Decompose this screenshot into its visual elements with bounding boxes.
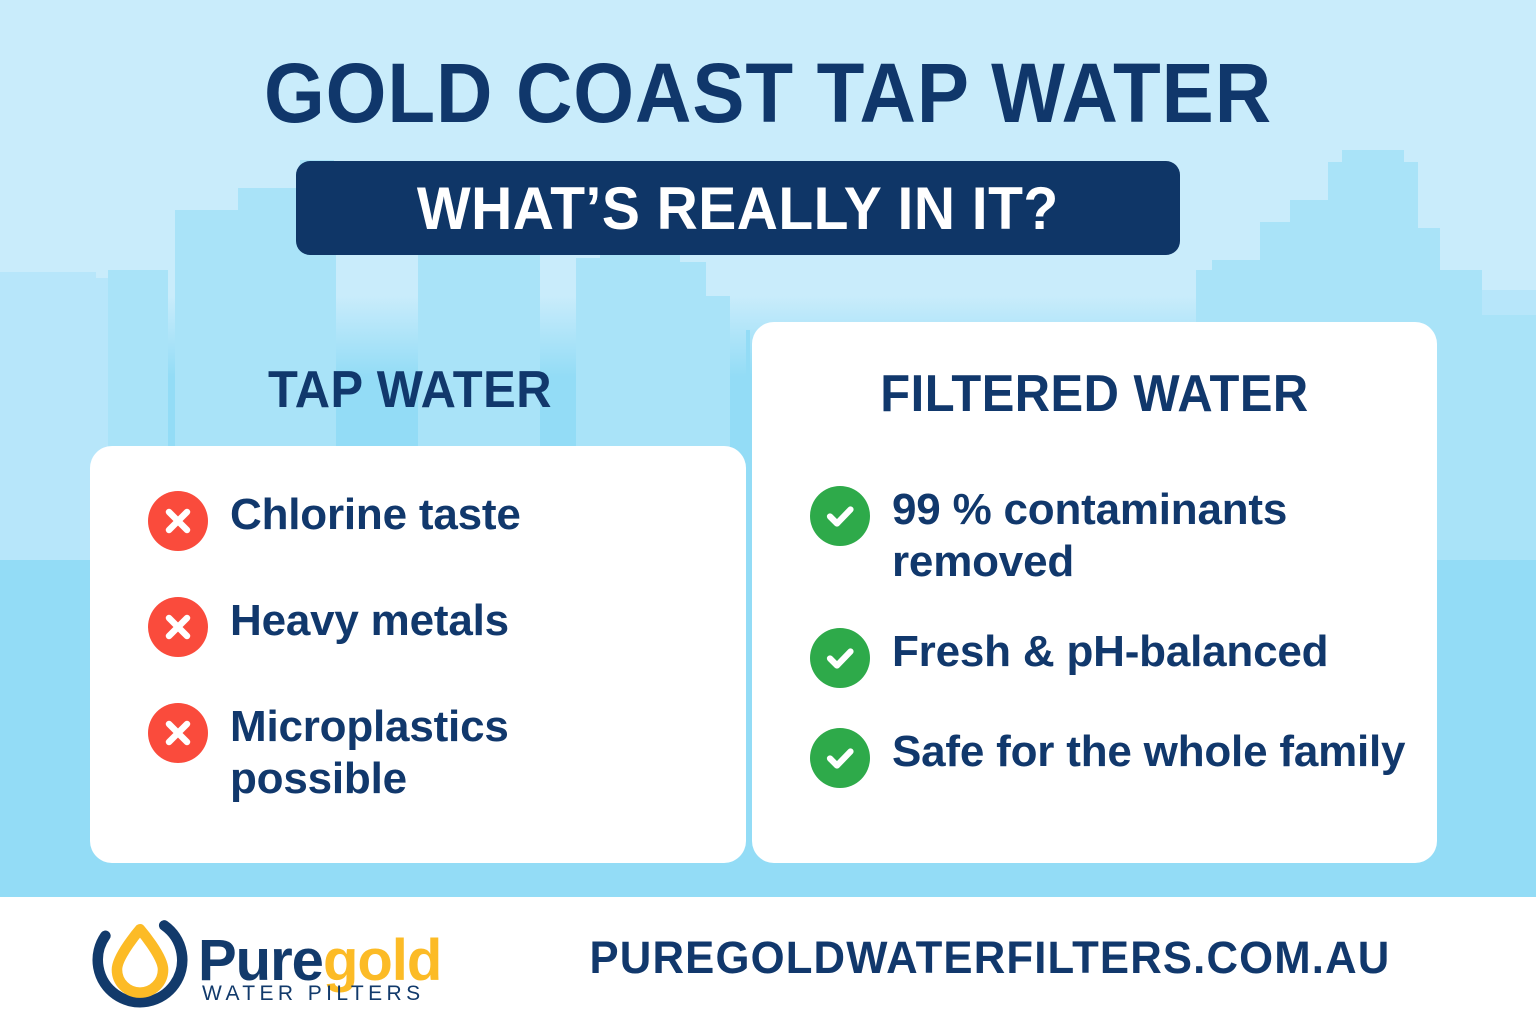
page-title: GOLD COAST TAP WATER <box>54 47 1482 139</box>
x-circle-icon <box>148 491 208 551</box>
check-circle-icon <box>810 486 870 546</box>
brand-tagline: WATER PILTERS <box>202 982 425 1006</box>
list-item: Heavy metals <box>148 595 688 657</box>
tap-water-heading: TAP WATER <box>153 360 666 420</box>
list-item: Fresh & pH-balanced <box>810 626 1410 688</box>
list-item-label: Safe for the whole family <box>892 726 1405 778</box>
list-item: Safe for the whole family <box>810 726 1410 788</box>
brand-logo[interactable]: Puregold WATER PILTERS <box>92 912 441 1008</box>
filtered-water-heading: FILTERED WATER <box>782 364 1407 424</box>
list-item-label: Fresh & pH-balanced <box>892 626 1328 678</box>
subtitle-badge: WHAT’S REALLY IN IT? <box>296 161 1180 255</box>
list-item-label: Heavy metals <box>230 595 509 647</box>
list-item: Chlorine taste <box>148 489 688 551</box>
infographic-canvas: GOLD COAST TAP WATER WHAT’S REALLY IN IT… <box>0 0 1536 1024</box>
filtered-water-list: 99 % contaminants removed Fresh & pH-bal… <box>810 484 1410 788</box>
check-circle-icon <box>810 628 870 688</box>
x-circle-icon <box>148 597 208 657</box>
check-circle-icon <box>810 728 870 788</box>
list-item: Microplastics possible <box>148 701 688 805</box>
water-drop-in-circle-icon <box>92 912 188 1008</box>
list-item-label: Chlorine taste <box>230 489 521 541</box>
subtitle-badge-text: WHAT’S REALLY IN IT? <box>417 174 1059 243</box>
list-item-label: Microplastics possible <box>230 701 688 805</box>
brand-wordmark-group: Puregold WATER PILTERS <box>198 930 441 990</box>
x-circle-icon <box>148 703 208 763</box>
website-url[interactable]: PUREGOLDWATERFILTERS.COM.AU <box>554 932 1427 984</box>
column-divider <box>746 330 750 858</box>
list-item: 99 % contaminants removed <box>810 484 1410 588</box>
tap-water-list: Chlorine taste Heavy metals Microplastic… <box>148 489 688 805</box>
list-item-label: 99 % contaminants removed <box>892 484 1410 588</box>
